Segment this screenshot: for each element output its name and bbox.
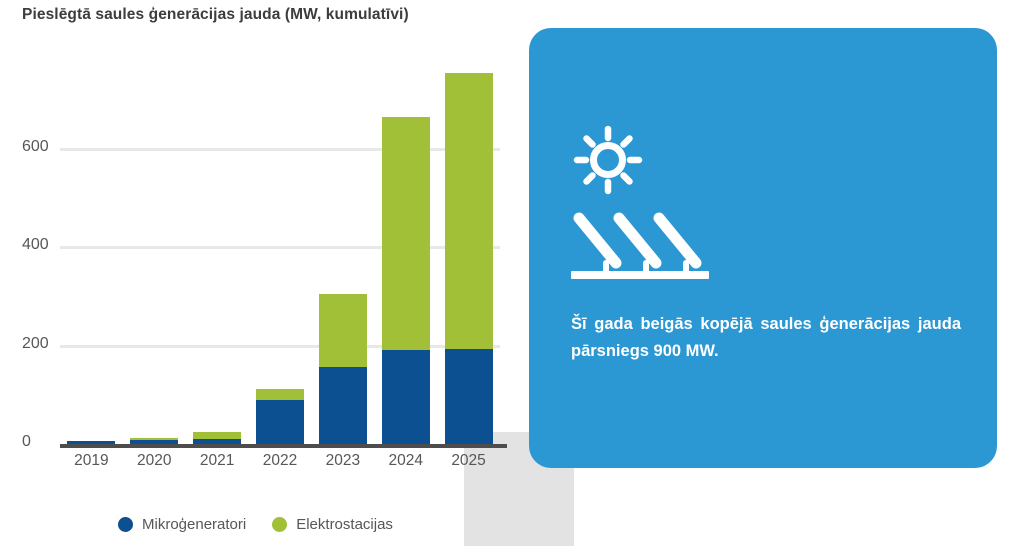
bar-segment-elektrostacijas-2024 <box>382 117 430 350</box>
legend-item-elektrostacijas[interactable]: Elektrostacijas <box>272 516 393 533</box>
callout-card: Šī gada beigās kopējā saules ģenerācijas… <box>529 28 997 468</box>
bar-segment-elektrostacijas-2021 <box>193 432 241 439</box>
x-axis-tick-2022: 2022 <box>249 452 312 470</box>
bar-chart: 02004006002019202020212022202320242025 <box>0 60 520 460</box>
y-axis-tick-600: 600 <box>22 138 49 156</box>
legend-swatch-green <box>272 517 287 532</box>
y-axis-tick-200: 200 <box>22 335 49 353</box>
bar-segment-mikrogeneratori-2023 <box>319 367 367 444</box>
bar-segment-mikrogeneratori-2025 <box>445 349 493 445</box>
x-axis-tick-2023: 2023 <box>311 452 374 470</box>
bar-segment-elektrostacijas-2022 <box>256 389 304 400</box>
bar-2025[interactable] <box>445 73 493 444</box>
gridline-200 <box>60 345 500 348</box>
bar-2022[interactable] <box>256 389 304 444</box>
y-axis-tick-0: 0 <box>22 433 31 451</box>
legend-label-mikrogeneratori: Mikroģeneratori <box>142 516 246 533</box>
bar-segment-elektrostacijas-2025 <box>445 73 493 349</box>
chart-plot-area: 02004006002019202020212022202320242025 <box>60 60 500 444</box>
bar-2021[interactable] <box>193 432 241 444</box>
callout-text: Šī gada beigās kopējā saules ģenerācijas… <box>571 311 961 364</box>
y-axis-tick-400: 400 <box>22 236 49 254</box>
x-axis-tick-2024: 2024 <box>374 452 437 470</box>
legend-item-mikrogeneratori[interactable]: Mikroģeneratori <box>118 516 246 533</box>
solar-panels-sun-icon <box>571 123 711 283</box>
bar-segment-mikrogeneratori-2022 <box>256 400 304 444</box>
x-axis-tick-2020: 2020 <box>123 452 186 470</box>
chart-legend: Mikroģeneratori Elektrostacijas <box>118 516 393 533</box>
gridline-400 <box>60 246 500 249</box>
x-axis-tick-2019: 2019 <box>60 452 123 470</box>
infographic-root: Pieslēgtā saules ģenerācijas jauda (MW, … <box>0 0 1024 546</box>
bar-segment-mikrogeneratori-2024 <box>382 350 430 444</box>
legend-label-elektrostacijas: Elektrostacijas <box>296 516 393 533</box>
bar-2024[interactable] <box>382 117 430 444</box>
bar-segment-elektrostacijas-2020 <box>130 438 178 440</box>
page-title: Pieslēgtā saules ģenerācijas jauda (MW, … <box>22 6 409 24</box>
bar-segment-elektrostacijas-2023 <box>319 294 367 366</box>
x-axis-tick-2025: 2025 <box>437 452 500 470</box>
legend-swatch-blue <box>118 517 133 532</box>
x-axis-tick-2021: 2021 <box>186 452 249 470</box>
gridline-600 <box>60 148 500 151</box>
x-axis-line <box>60 444 507 448</box>
bar-2023[interactable] <box>319 294 367 444</box>
